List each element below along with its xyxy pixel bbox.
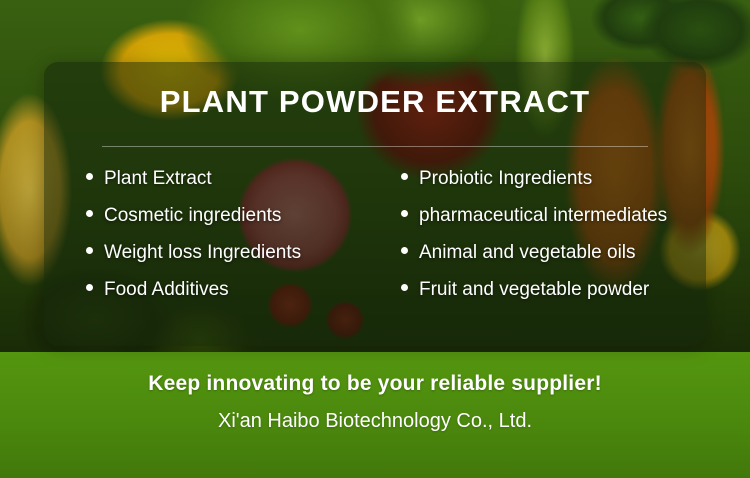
content-card: PLANT POWDER EXTRACT Plant Extract Cosme…: [44, 62, 706, 346]
product-category-lists: Plant Extract Cosmetic ingredients Weigh…: [44, 168, 706, 316]
category-column-left: Plant Extract Cosmetic ingredients Weigh…: [44, 168, 375, 316]
list-item-label: Fruit and vegetable powder: [419, 279, 649, 301]
bullet-icon: [86, 284, 93, 291]
list-item: pharmaceutical intermediates: [401, 205, 706, 227]
title-divider: [102, 146, 648, 147]
list-item-label: Cosmetic ingredients: [104, 205, 281, 227]
list-item: Animal and vegetable oils: [401, 242, 706, 264]
list-item: Weight loss Ingredients: [86, 242, 375, 264]
bullet-icon: [86, 173, 93, 180]
category-column-right: Probiotic Ingredients pharmaceutical int…: [375, 168, 706, 316]
list-item: Cosmetic ingredients: [86, 205, 375, 227]
list-item-label: Weight loss Ingredients: [104, 242, 301, 264]
page-title: PLANT POWDER EXTRACT: [44, 84, 706, 120]
list-item-label: pharmaceutical intermediates: [419, 205, 667, 227]
bullet-icon: [86, 210, 93, 217]
list-item-label: Food Additives: [104, 279, 229, 301]
bullet-icon: [401, 284, 408, 291]
list-item-label: Plant Extract: [104, 168, 212, 190]
bullet-icon: [401, 247, 408, 254]
list-item: Plant Extract: [86, 168, 375, 190]
list-item: Probiotic Ingredients: [401, 168, 706, 190]
bullet-icon: [86, 247, 93, 254]
list-item: Food Additives: [86, 279, 375, 301]
bullet-icon: [401, 173, 408, 180]
list-item-label: Animal and vegetable oils: [419, 242, 636, 264]
company-name: Xi'an Haibo Biotechnology Co., Ltd.: [0, 410, 750, 433]
bullet-icon: [401, 210, 408, 217]
promo-banner: PLANT POWDER EXTRACT Plant Extract Cosme…: [0, 0, 750, 478]
tagline-text: Keep innovating to be your reliable supp…: [0, 372, 750, 396]
list-item-label: Probiotic Ingredients: [419, 168, 592, 190]
list-item: Fruit and vegetable powder: [401, 279, 706, 301]
